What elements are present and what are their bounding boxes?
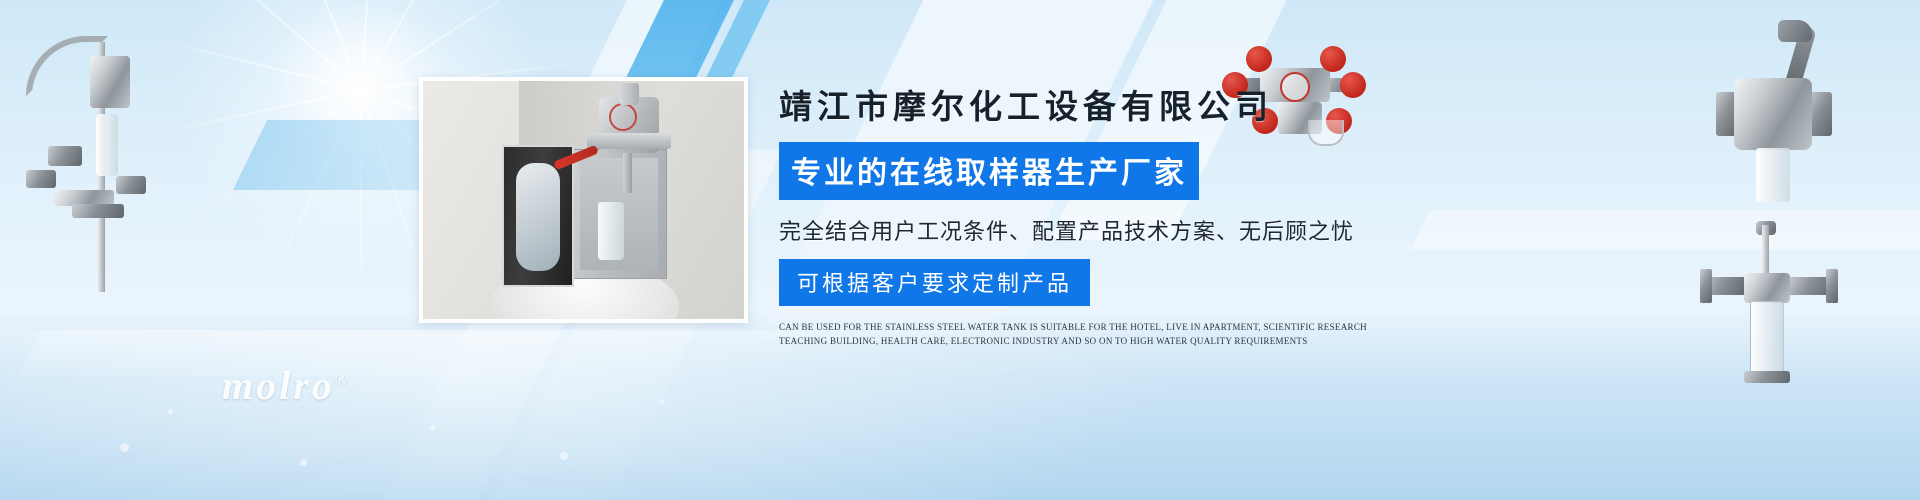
- banner-subtitle: 完全结合用户工况条件、配置产品技术方案、无后顾之忧: [779, 214, 1399, 246]
- company-title: 靖江市摩尔化工设备有限公司: [779, 80, 1399, 128]
- machinery-skid-mounted-sampler: [12, 28, 152, 293]
- watermark-registered-mark: ®: [335, 370, 351, 389]
- headline-highlight-secondary: 可根据客户要求定制产品: [779, 259, 1090, 306]
- water-splash-glow: [0, 330, 1240, 500]
- diagonal-ribbon-bottom-right: [1410, 210, 1920, 250]
- watermark-brand-text: molro: [222, 363, 335, 408]
- machinery-bottom-sampler: [1700, 225, 1840, 395]
- bubble-icon: [120, 443, 129, 452]
- machinery-lever-valve: [1716, 22, 1836, 212]
- bubble-icon: [168, 409, 173, 414]
- promo-banner: 靖江市摩尔化工设备有限公司 专业的在线取样器生产厂家 完全结合用户工况条件、配置…: [0, 0, 1920, 500]
- english-description: CAN BE USED FOR THE STAINLESS STEEL WATE…: [779, 320, 1379, 348]
- bubble-icon: [300, 459, 307, 466]
- banner-copy-block: 靖江市摩尔化工设备有限公司 专业的在线取样器生产厂家 完全结合用户工况条件、配置…: [779, 80, 1399, 348]
- watermark-logo: molro®: [222, 362, 351, 409]
- bubble-icon: [660, 399, 665, 404]
- product-photo: [419, 77, 748, 323]
- bubble-icon: [560, 452, 568, 460]
- bubble-icon: [430, 425, 435, 430]
- valve-logo-icon: [609, 103, 637, 131]
- headline-highlight-primary: 专业的在线取样器生产厂家: [779, 142, 1199, 200]
